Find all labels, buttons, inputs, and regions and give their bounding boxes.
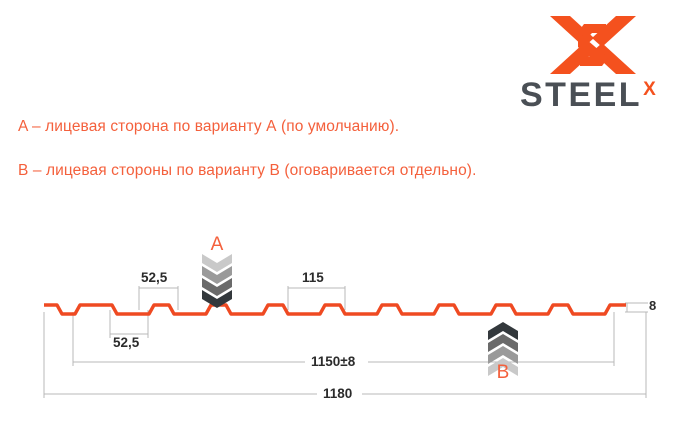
variant-b-label: B xyxy=(485,362,521,384)
dimension-value-thickness: 8 xyxy=(649,298,656,313)
variant-a-label: A xyxy=(199,234,235,256)
dimension-value-working-width: 1150±8 xyxy=(307,354,359,369)
dimension-value-rib-spacing: 115 xyxy=(302,270,324,285)
dimension-value-total-width: 1180 xyxy=(319,386,356,401)
variant-a-arrow-group xyxy=(199,252,235,308)
dimension-value-pitch-top: 52,5 xyxy=(141,270,167,285)
corrugated-profile-path xyxy=(44,305,626,314)
dimension-value-pitch-bottom: 52,5 xyxy=(113,335,139,350)
profile-technical-drawing xyxy=(0,0,700,436)
